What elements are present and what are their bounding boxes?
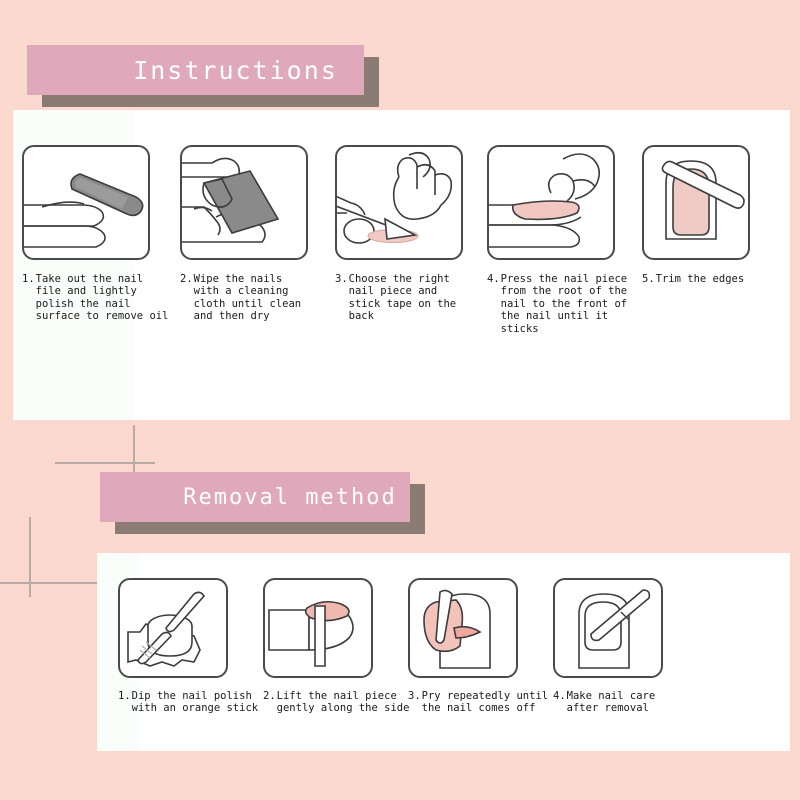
step2-illustration [182, 147, 308, 260]
poster-canvas: Instructions 1 [0, 0, 800, 800]
instruction-step-5: 5. Trim the edges [642, 145, 792, 345]
banner-plate: Instructions [27, 45, 364, 95]
step-number: 2. [263, 690, 277, 702]
step-text: Choose the right nail piece and stick ta… [349, 273, 483, 323]
instruction-step-2-caption: 2. Wipe the nails with a cleaning cloth … [180, 273, 330, 323]
instruction-step-1: 1. Take out the nail file and lightly po… [22, 145, 180, 345]
removal-step-1-caption: 1. Dip the nail polish with an orange st… [118, 690, 263, 715]
step-number: 1. [22, 273, 36, 285]
step4-illustration [489, 147, 615, 260]
tweezers-pick-nail-piece-icon [335, 145, 463, 260]
instruction-step-3-caption: 3. Choose the right nail piece and stick… [335, 273, 483, 323]
instructions-steps: 1. Take out the nail file and lightly po… [22, 145, 792, 345]
step-text: Lift the nail piece gently along the sid… [277, 690, 411, 715]
nail-piece-pink [513, 201, 579, 219]
tweezers-tool [385, 219, 415, 239]
instructions-banner: Instructions [27, 45, 379, 107]
trim-edges-file-icon [642, 145, 750, 260]
removal-step-2-caption: 2. Lift the nail piece gently along the … [263, 690, 411, 715]
removal-step-2: 2. Lift the nail piece gently along the … [263, 578, 408, 728]
step-text: Wipe the nails with a cleaning cloth unt… [194, 273, 330, 323]
removal3-illustration [410, 580, 518, 678]
decorative-cross-lower [0, 517, 98, 597]
orange-stick-tool [315, 606, 325, 666]
removal-step-4: 4. Make nail care after removal [553, 578, 698, 728]
instruction-step-1-caption: 1. Take out the nail file and lightly po… [22, 273, 182, 323]
removal2-illustration [265, 580, 373, 678]
nail-piece-pink [306, 602, 349, 621]
pry-nail-off-icon [408, 578, 518, 678]
step5-illustration [644, 147, 750, 260]
banner-plate: Removal method [100, 472, 410, 522]
press-nail-piece-icon [487, 145, 615, 260]
step-text: Dip the nail polish with an orange stick [132, 690, 263, 715]
removal-step-3: 3. Pry repeatedly until the nail comes o… [408, 578, 553, 728]
step-text: Make nail care after removal [567, 690, 698, 715]
instruction-step-5-caption: 5. Trim the edges [642, 273, 790, 285]
instruction-step-2: 2. Wipe the nails with a cleaning cloth … [180, 145, 335, 345]
removal4-illustration [555, 580, 663, 678]
cross-vertical-line [29, 517, 31, 597]
removal-banner-title: Removal method [113, 485, 396, 510]
step3-illustration [337, 147, 463, 260]
step-number: 3. [335, 273, 349, 285]
step-number: 4. [487, 273, 501, 285]
removal-banner: Removal method [100, 472, 425, 534]
removal-step-4-caption: 4. Make nail care after removal [553, 690, 698, 715]
cleaning-cloth-wipe-icon [180, 145, 308, 260]
step-number: 1. [118, 690, 132, 702]
instruction-step-4-caption: 4. Press the nail piece from the root of… [487, 273, 639, 335]
step-number: 3. [408, 690, 422, 702]
cross-horizontal-line [0, 582, 98, 584]
step1-illustration [24, 147, 150, 260]
finger-block [269, 610, 309, 650]
cross-horizontal-line [55, 462, 155, 464]
removal-steps: 1. Dip the nail polish with an orange st… [118, 578, 778, 728]
step-text: Trim the edges [656, 273, 790, 285]
instruction-step-3: 3. Choose the right nail piece and stick… [335, 145, 487, 345]
dip-orange-stick-bottle-icon [118, 578, 228, 678]
step-text: Take out the nail file and lightly polis… [36, 273, 182, 323]
removal-step-3-caption: 3. Pry repeatedly until the nail comes o… [408, 690, 558, 715]
instructions-banner-title: Instructions [53, 56, 338, 85]
removal-step-1: 1. Dip the nail polish with an orange st… [118, 578, 263, 728]
step-text: Press the nail piece from the root of th… [501, 273, 639, 335]
step-number: 4. [553, 690, 567, 702]
step-text: Pry repeatedly until the nail comes off [422, 690, 558, 715]
step-number: 2. [180, 273, 194, 285]
removal1-illustration [120, 580, 228, 678]
nail-care-after-removal-icon [553, 578, 663, 678]
nail-file-polishing-icon [22, 145, 150, 260]
step-number: 5. [642, 273, 656, 285]
instruction-step-4: 4. Press the nail piece from the root of… [487, 145, 642, 345]
lift-nail-piece-icon [263, 578, 373, 678]
